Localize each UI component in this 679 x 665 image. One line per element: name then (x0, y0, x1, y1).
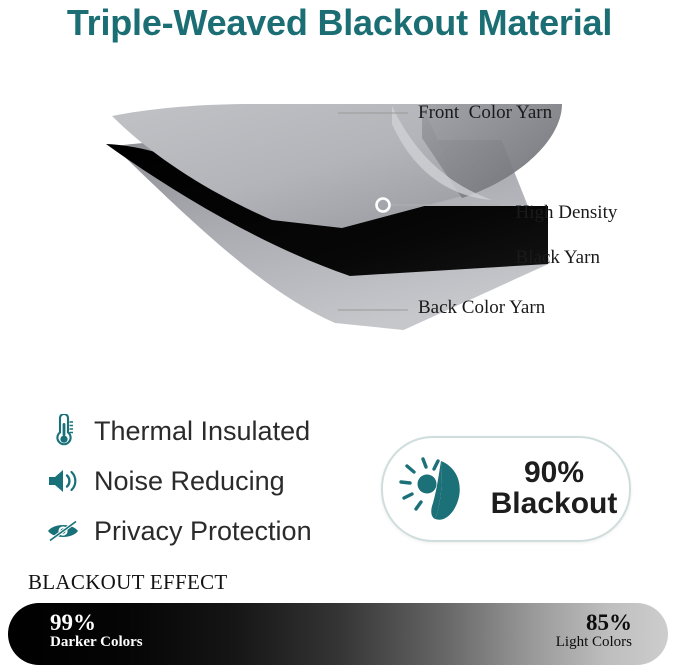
callout-front-color-yarn: Front Color Yarn (418, 102, 552, 124)
blackout-effect-heading: BLACKOUT EFFECT (28, 570, 228, 595)
callout-back-color-yarn: Back Color Yarn (418, 297, 545, 319)
feature-item-privacy-protection: Privacy Protection (44, 508, 374, 554)
gradient-bar-right-labels: 85% Light Colors (556, 611, 632, 651)
thermometer-icon (44, 412, 82, 450)
badge-word: Blackout (485, 489, 623, 520)
speaker-sound-icon (44, 462, 82, 500)
gradient-bar-right-caption: Light Colors (556, 635, 632, 651)
blackout-effect-gradient-bar: 99% Darker Colors 85% Light Colors (8, 603, 668, 665)
feature-label-thermal-insulated: Thermal Insulated (94, 416, 310, 447)
feature-item-thermal-insulated: Thermal Insulated (44, 408, 374, 454)
feature-label-privacy-protection: Privacy Protection (94, 516, 312, 547)
callout-high-density-line2: Black Yarn (516, 247, 600, 268)
blackout-percentage-badge: 90% Blackout (381, 436, 631, 542)
callout-high-density-line1: High Density (516, 202, 618, 223)
callout-high-density-black-yarn: High Density Black Yarn (506, 180, 617, 270)
feature-label-noise-reducing: Noise Reducing (94, 466, 285, 497)
badge-text: 90% Blackout (485, 458, 623, 519)
badge-percent: 90% (485, 458, 623, 489)
gradient-bar-right-percent: 85% (556, 611, 632, 635)
gradient-bar-left-caption: Darker Colors (50, 635, 143, 651)
sun-blocked-by-curtain-icon (393, 451, 485, 527)
gradient-bar-left-labels: 99% Darker Colors (50, 611, 143, 651)
gradient-bar-left-percent: 99% (50, 611, 143, 635)
feature-list: Thermal Insulated Noise Reducing Privacy… (44, 408, 374, 558)
feature-item-noise-reducing: Noise Reducing (44, 458, 374, 504)
eye-slash-icon (44, 512, 82, 550)
page-title: Triple-Weaved Blackout Material (0, 2, 679, 44)
